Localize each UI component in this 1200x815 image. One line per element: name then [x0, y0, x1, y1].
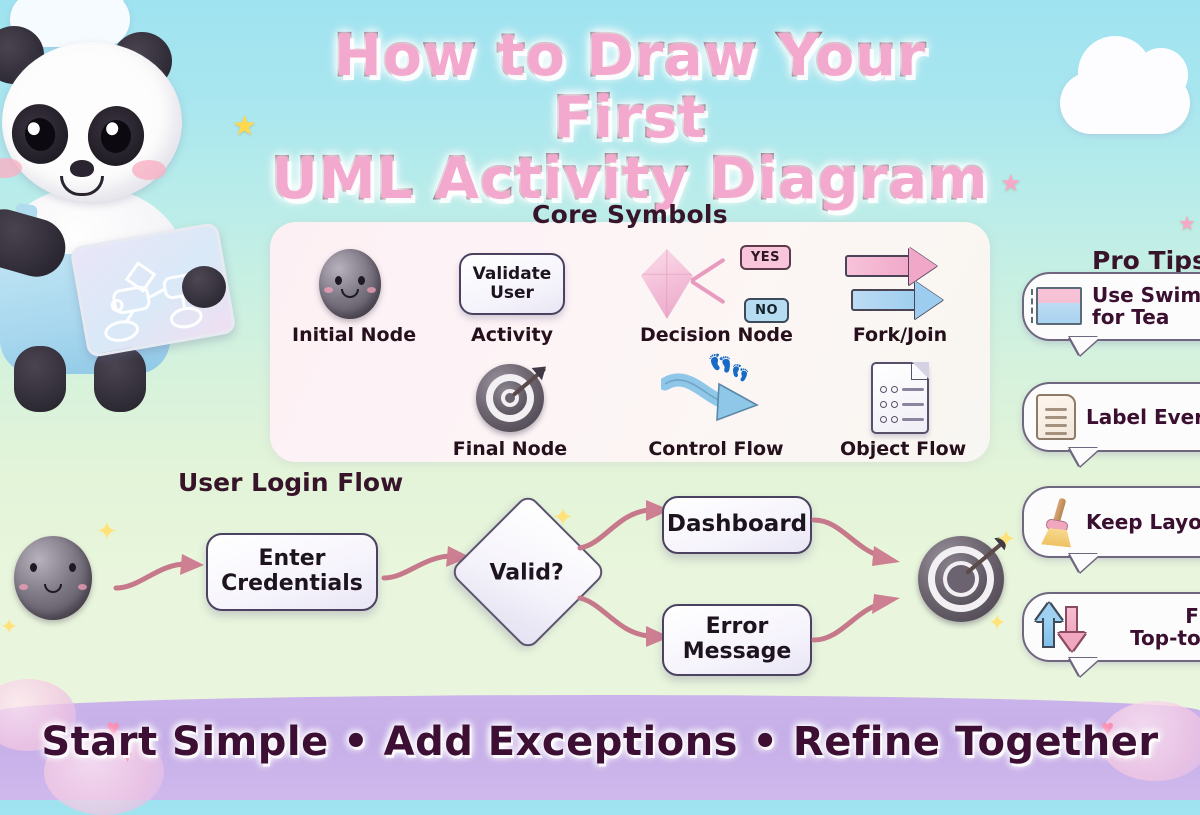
- sparkle-icon-5: ✦: [988, 612, 1006, 634]
- sparkle-icon-3: ✦: [552, 504, 574, 530]
- pro-tip-swimlanes[interactable]: Use Swim for Tea: [1022, 272, 1200, 341]
- pro-tip-label-everything[interactable]: Label Every: [1022, 382, 1200, 452]
- flow-node-enter-credentials: Enter Credentials: [206, 533, 378, 611]
- tip-text-line-2: Top-to-Bo: [1094, 627, 1200, 649]
- symbol-control-flow: 👣 👣 Control Flow: [642, 358, 790, 460]
- star-icon-pink-2: ★: [1178, 214, 1196, 234]
- swimlane-chart-icon: [1036, 287, 1082, 325]
- node-text-line-1: Enter: [221, 547, 363, 572]
- flow-arrow-start-to-credentials: [112, 552, 208, 600]
- up-down-arrows-icon: [1036, 604, 1084, 650]
- badge-yes: YES: [740, 245, 791, 270]
- pro-tips-heading: Pro Tips: [1092, 246, 1200, 275]
- tip-text-line-1: Label Every: [1086, 406, 1200, 428]
- sparkle-icon-4: ✦: [996, 528, 1016, 552]
- flow-node-start: [14, 536, 92, 620]
- symbol-label: Object Flow: [840, 438, 960, 460]
- sparkle-icon-1: ✦: [96, 518, 118, 544]
- symbol-label: Activity: [452, 324, 572, 346]
- symbol-label: Control Flow: [642, 438, 790, 460]
- tip-text-line-2: for Tea: [1092, 306, 1200, 328]
- tip-text-line-1: Flow: [1094, 605, 1200, 627]
- panda-hand-right: [182, 266, 226, 308]
- flow-arrow-dashboard-to-end: [812, 508, 908, 572]
- node-text-line-2: Message: [683, 640, 792, 665]
- title-line-1: How to Draw Your First: [250, 26, 1010, 149]
- panda-leg-left: [14, 346, 66, 412]
- footer-banner: ♥ ♥ ♥ ♥ Start Simple • Add Exceptions • …: [0, 695, 1200, 800]
- symbol-label: Decision Node: [640, 324, 792, 346]
- symbol-initial-node: Initial Node: [292, 244, 408, 346]
- footer-text: Start Simple • Add Exceptions • Refine T…: [0, 719, 1200, 765]
- symbol-label: Initial Node: [292, 324, 408, 346]
- final-node-target-icon: [448, 358, 572, 438]
- activity-box-line-2: User: [473, 284, 552, 303]
- activity-box-line-1: Validate: [473, 265, 552, 284]
- panda-mascot: [0, 8, 232, 458]
- flow-node-dashboard: Dashboard: [662, 496, 812, 554]
- initial-node-ball-icon: [292, 244, 408, 324]
- pro-tip-keep-layout[interactable]: Keep Layou: [1022, 486, 1200, 558]
- panda-blush-right: [132, 160, 166, 180]
- core-symbols-heading: Core Symbols: [270, 200, 990, 229]
- pro-tip-flow-direction[interactable]: Flow Top-to-Bo: [1022, 592, 1200, 662]
- sparkle-icon-2: ✦: [0, 616, 18, 638]
- broom-icon: [1036, 498, 1076, 546]
- footprint-icon-2: 👣: [730, 363, 751, 383]
- node-text: Dashboard: [667, 512, 807, 538]
- scroll-icon: [1036, 394, 1076, 440]
- tip-text-line-1: Use Swim: [1092, 284, 1200, 306]
- flow-heading: User Login Flow: [178, 468, 403, 497]
- badge-no: NO: [744, 298, 789, 323]
- flow-arrow-error-to-end: [812, 588, 908, 652]
- tip-text-line-1: Keep Layou: [1086, 511, 1200, 533]
- flow-node-error-message: Error Message: [662, 604, 812, 676]
- infographic-canvas: ★ ★ ★: [0, 0, 1200, 800]
- cloud-decoration-top-right: [1060, 72, 1190, 134]
- fork-join-arrows-icon: [840, 244, 960, 324]
- symbol-object-flow: Object Flow: [840, 358, 960, 460]
- control-flow-swoosh-icon: 👣 👣: [642, 358, 790, 438]
- activity-box-icon: Validate User: [452, 244, 572, 324]
- symbol-label: Final Node: [448, 438, 572, 460]
- symbol-activity: Validate User Activity: [452, 244, 572, 346]
- panda-nose: [70, 160, 94, 177]
- object-flow-document-icon: [840, 358, 960, 438]
- node-text-line-2: Credentials: [221, 572, 363, 597]
- symbol-decision-node: YES NO Decision Node: [640, 244, 792, 346]
- symbol-final-node: Final Node: [448, 358, 572, 460]
- decision-diamond-icon: YES NO: [640, 244, 792, 324]
- symbol-label: Fork/Join: [840, 324, 960, 346]
- symbol-fork-join: Fork/Join: [840, 244, 960, 346]
- diamond-gem-shape: [641, 249, 693, 319]
- node-text: Valid?: [473, 517, 581, 629]
- page-title: How to Draw Your First UML Activity Diag…: [250, 26, 1010, 211]
- node-text-line-1: Error: [683, 615, 792, 640]
